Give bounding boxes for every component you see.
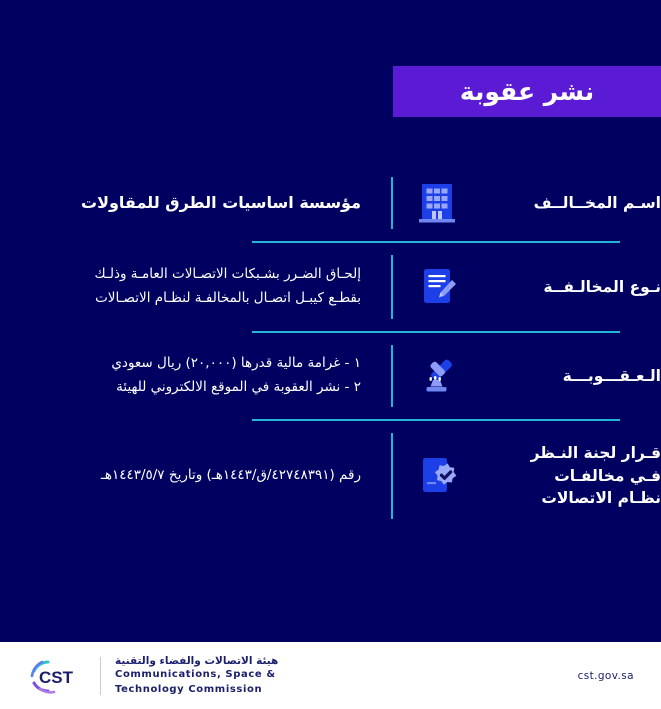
cst-logo-icon: CST xyxy=(26,656,86,696)
row-label-cell-penalty: الـعـقـــوبـــة xyxy=(393,333,661,419)
violation-type-line-1: إلحـاق الضـرر بشـبكات الاتصـالات العامـة… xyxy=(22,263,361,287)
row-value-cell-violator-name: مؤسسة اساسيات الطرق للمقاولات xyxy=(0,165,391,241)
row-label-cell-decision: قـرار لجنة النـظر فـي مخالفـات نظـام الا… xyxy=(393,421,661,531)
decision-number-value: رقم (٤٢٧٤٨٣٩١/ق/١٤٤٣هـ) وتاريخ ١٤٤٣/٥/٧ه… xyxy=(22,464,361,488)
footer-brand: CST هيئة الاتصالات والفضاء والتقنية Comm… xyxy=(26,655,278,696)
penalty-line-2: ٢ - نشر العقوبة في الموقع الالكتروني لله… xyxy=(22,376,361,400)
table-row: اسـم المخــالــف مؤسسة اساسيات الطرق للم… xyxy=(0,165,661,241)
table-row: الـعـقـــوبـــة ١ - غرامة مالية قدرها (٢… xyxy=(0,333,661,419)
building-icon xyxy=(411,177,463,229)
row-vertical-divider xyxy=(391,345,393,407)
penalty-record-card: اسـم المخــالــف مؤسسة اساسيات الطرق للم… xyxy=(0,165,661,531)
page-header-banner: نشر عقوبة xyxy=(393,66,661,117)
document-verified-icon xyxy=(411,450,463,502)
violation-type-value: إلحـاق الضـرر بشـبكات الاتصـالات العامـة… xyxy=(22,263,361,310)
page-footer: CST هيئة الاتصالات والفضاء والتقنية Comm… xyxy=(0,642,661,709)
row-vertical-divider xyxy=(391,177,393,229)
penalty-line-1: ١ - غرامة مالية قدرها (٢٠,٠٠٠) ريال سعود… xyxy=(22,352,361,376)
row-label-cell-violation-type: نـوع المخالـفــة xyxy=(393,243,661,331)
row-label-cell-violator-name: اسـم المخــالــف xyxy=(393,165,661,241)
row-label-penalty: الـعـقـــوبـــة xyxy=(485,365,661,387)
row-label-violator-name: اسـم المخــالــف xyxy=(485,192,661,214)
row-value-cell-penalty: ١ - غرامة مالية قدرها (٢٠,٠٠٠) ريال سعود… xyxy=(0,333,391,419)
table-row: نـوع المخالـفــة إلحـاق الضـرر بشـبكات ا… xyxy=(0,243,661,331)
website-url[interactable]: cst.gov.sa xyxy=(578,670,634,682)
row-vertical-divider xyxy=(391,433,393,519)
row-value-cell-violation-type: إلحـاق الضـرر بشـبكات الاتصـالات العامـة… xyxy=(0,243,391,331)
row-vertical-divider xyxy=(391,255,393,319)
brand-text-block: هيئة الاتصالات والفضاء والتقنية Communic… xyxy=(115,655,278,696)
org-name-arabic: هيئة الاتصالات والفضاء والتقنية xyxy=(115,655,278,667)
violator-name-value: مؤسسة اساسيات الطرق للمقاولات xyxy=(22,189,361,217)
row-label-violation-type: نـوع المخالـفــة xyxy=(485,276,661,298)
decision-label-line-1: قـرار لجنة النـظر xyxy=(505,442,661,464)
brand-divider xyxy=(100,657,101,695)
document-pen-icon xyxy=(411,261,463,313)
row-label-decision: قـرار لجنة النـظر فـي مخالفـات نظـام الا… xyxy=(485,442,661,509)
row-value-cell-decision: رقم (٤٢٧٤٨٣٩١/ق/١٤٤٣هـ) وتاريخ ١٤٤٣/٥/٧ه… xyxy=(0,421,391,531)
decision-label-line-2: فـي مخالفـات xyxy=(505,465,661,487)
org-name-english-line-2: Technology Commission xyxy=(115,683,278,697)
penalty-value: ١ - غرامة مالية قدرها (٢٠,٠٠٠) ريال سعود… xyxy=(22,352,361,399)
violation-type-line-2: بقطـع كيبـل اتصـال بالمخالفـة لنظـام الا… xyxy=(22,287,361,311)
gavel-icon xyxy=(411,350,463,402)
cst-logo-text: CST xyxy=(39,668,74,687)
page-title: نشر عقوبة xyxy=(460,77,594,106)
decision-label-line-3: نظـام الاتصالات xyxy=(505,487,661,509)
org-name-english-line-1: Communications, Space & xyxy=(115,668,278,682)
table-row: قـرار لجنة النـظر فـي مخالفـات نظـام الا… xyxy=(0,421,661,531)
